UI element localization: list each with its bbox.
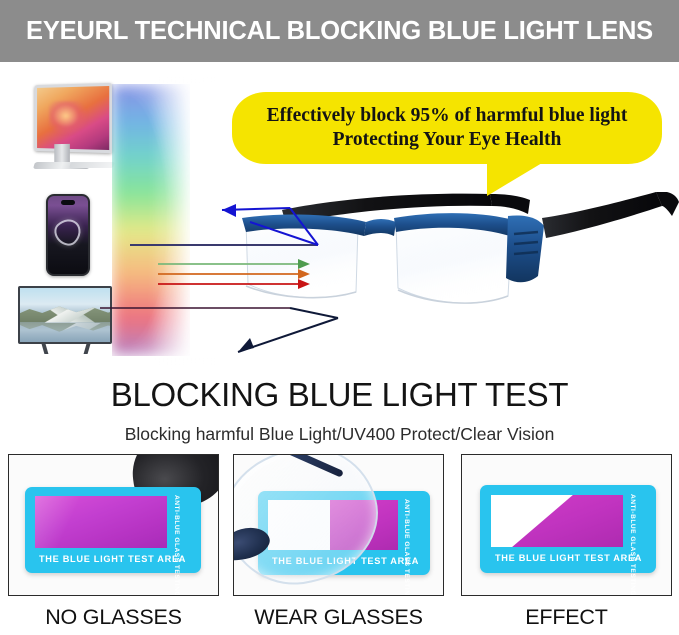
page-title: EYEURL TECHNICAL BLOCKING BLUE LIGHT LEN… (26, 17, 653, 46)
test-section-header: BLOCKING BLUE LIGHT TEST Blocking harmfu… (0, 370, 679, 452)
panel-effect: THE BLUE LIGHT TEST AREA ANTI-BLUE GLASS… (461, 454, 672, 630)
hero-section: Effectively block 95% of harmful blue li… (0, 62, 679, 370)
card-side-caption: ANTI-BLUE GLASS TESTING (629, 494, 636, 596)
card-side-caption: ANTI-BLUE GLASS TESTING (403, 499, 410, 596)
panel-wear-glasses: THE BLUE LIGHT TEST AREA ANTI-BLUE GLASS… (233, 454, 444, 630)
red-ray-passes (158, 279, 310, 289)
card-side-caption: ANTI-BLUE GLASS TESTING (173, 495, 180, 596)
green-ray-passes (158, 259, 310, 269)
blue-ray-blocked (130, 204, 318, 245)
blue-light-test-card: THE BLUE LIGHT TEST AREA ANTI-BLUE GLASS… (25, 487, 201, 573)
blue-light-test-card: THE BLUE LIGHT TEST AREA ANTI-BLUE GLASS… (480, 485, 656, 573)
card-caption: THE BLUE LIGHT TEST AREA (495, 553, 642, 563)
reactive-area-purple (35, 496, 167, 548)
panel-wear-glasses-photo: THE BLUE LIGHT TEST AREA ANTI-BLUE GLASS… (233, 454, 444, 596)
bubble-line-1: Effectively block 95% of harmful blue li… (267, 105, 628, 127)
panel-label-wear-glasses: WEAR GLASSES (233, 596, 444, 630)
card-caption: THE BLUE LIGHT TEST AREA (39, 554, 186, 564)
panel-label-no-glasses: NO GLASSES (8, 596, 219, 630)
test-panels-row: THE BLUE LIGHT TEST AREA ANTI-BLUE GLASS… (0, 454, 679, 635)
card-test-window (35, 496, 167, 548)
bubble-line-2: Protecting Your Eye Health (333, 129, 562, 151)
card-test-window (491, 495, 623, 547)
panel-no-glasses-photo: THE BLUE LIGHT TEST AREA ANTI-BLUE GLASS… (8, 454, 219, 596)
speech-bubble-tail (487, 160, 547, 196)
panel-effect-photo: THE BLUE LIGHT TEST AREA ANTI-BLUE GLASS… (461, 454, 672, 596)
panel-no-glasses: THE BLUE LIGHT TEST AREA ANTI-BLUE GLASS… (8, 454, 219, 630)
test-section-title: BLOCKING BLUE LIGHT TEST (0, 370, 679, 414)
panel-label-effect: EFFECT (461, 596, 672, 630)
reactive-area-purple (491, 495, 623, 547)
navy-ray-reflected (100, 308, 338, 352)
header-bar: EYEURL TECHNICAL BLOCKING BLUE LIGHT LEN… (0, 0, 679, 62)
speech-bubble: Effectively block 95% of harmful blue li… (232, 92, 662, 164)
test-section-subtitle: Blocking harmful Blue Light/UV400 Protec… (0, 414, 679, 445)
orange-ray-passes (158, 269, 310, 279)
